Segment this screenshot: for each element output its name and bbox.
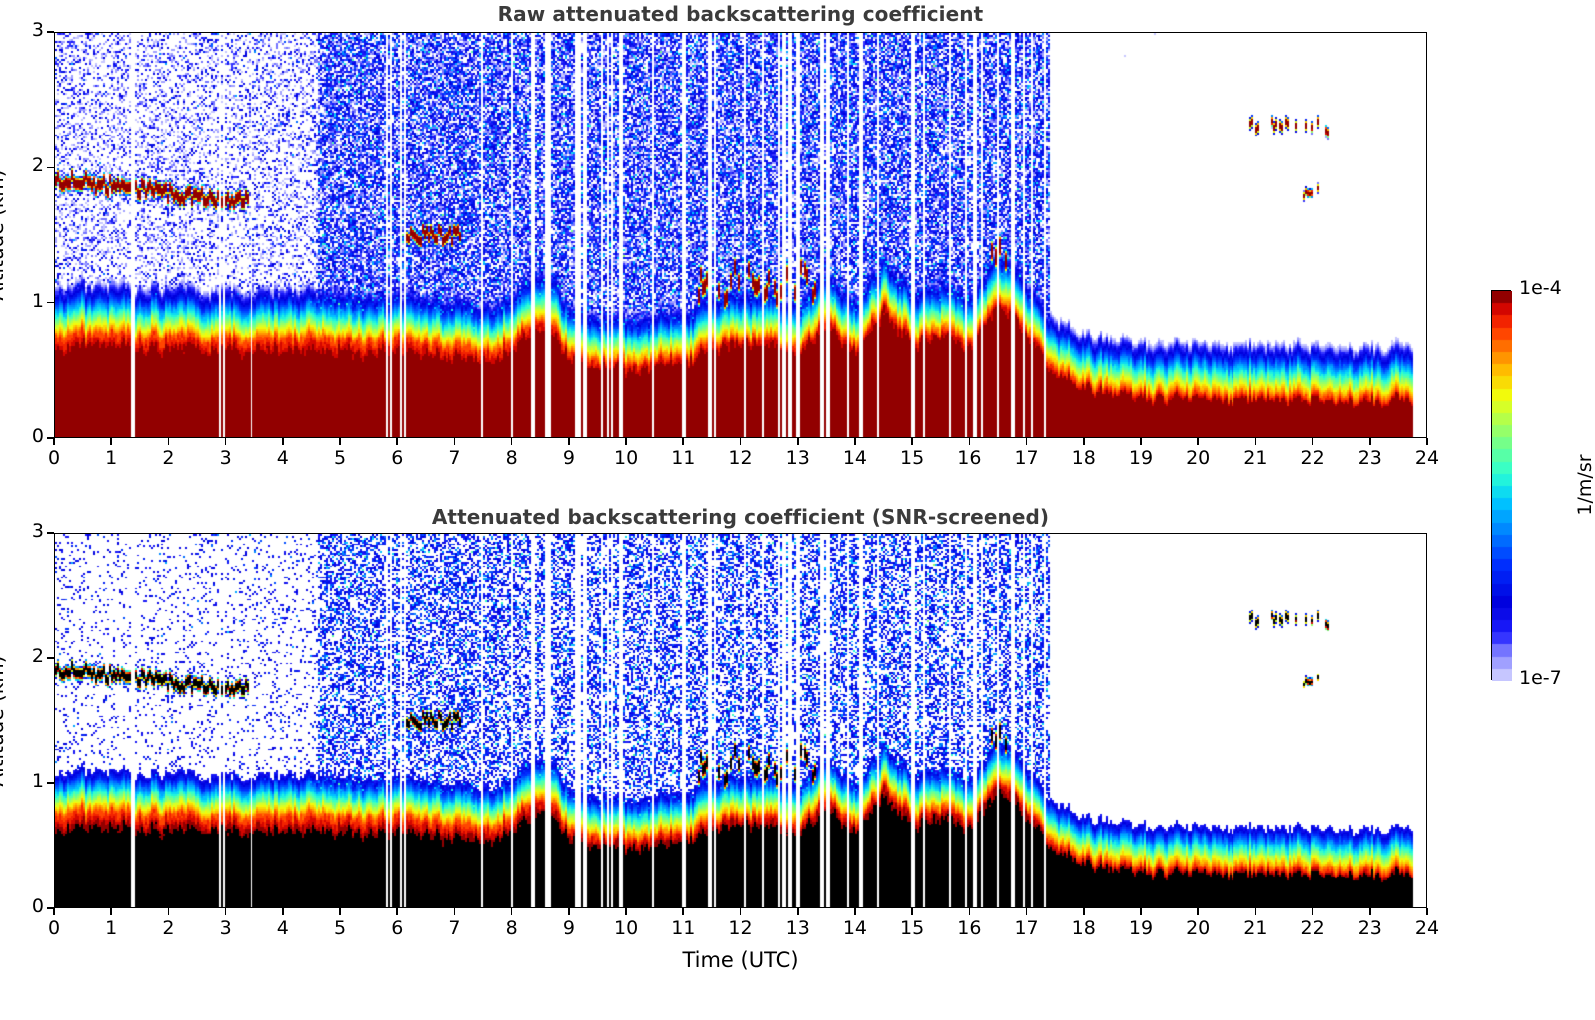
x-tick-label-raw-3: 3: [202, 447, 250, 469]
x-tick-raw-13: [797, 438, 799, 445]
y-tick-raw-2: [47, 167, 54, 169]
x-tick-label-screened-20: 20: [1174, 917, 1222, 939]
panel-title-screened: Attenuated backscattering coefficient (S…: [54, 505, 1427, 529]
x-tick-label-screened-1: 1: [87, 917, 135, 939]
y-tick-label-screened-1: 1: [8, 770, 44, 792]
y-tick-label-raw-3: 3: [8, 19, 44, 41]
x-tick-raw-23: [1369, 438, 1371, 445]
x-tick-label-screened-7: 7: [430, 917, 478, 939]
x-tick-label-raw-15: 15: [888, 447, 936, 469]
x-tick-screened-3: [225, 908, 227, 915]
x-tick-raw-5: [339, 438, 341, 445]
x-tick-label-raw-21: 21: [1231, 447, 1279, 469]
y-tick-label-screened-0: 0: [8, 895, 44, 917]
x-tick-raw-8: [511, 438, 513, 445]
x-tick-label-screened-8: 8: [488, 917, 536, 939]
y-tick-label-raw-1: 1: [8, 290, 44, 312]
x-tick-label-raw-0: 0: [30, 447, 78, 469]
x-tick-label-screened-0: 0: [30, 917, 78, 939]
y-tick-screened-2: [47, 657, 54, 659]
y-tick-label-raw-0: 0: [8, 425, 44, 447]
x-tick-raw-6: [396, 438, 398, 445]
heatmap-screened[interactable]: [54, 533, 1427, 908]
x-tick-screened-23: [1369, 908, 1371, 915]
x-tick-screened-16: [969, 908, 971, 915]
x-tick-screened-18: [1083, 908, 1085, 915]
x-tick-label-screened-14: 14: [831, 917, 879, 939]
x-tick-raw-21: [1255, 438, 1257, 445]
x-tick-screened-22: [1312, 908, 1314, 915]
x-tick-screened-8: [511, 908, 513, 915]
colorbar-max-label: 1e-4: [1519, 277, 1562, 299]
x-tick-screened-11: [682, 908, 684, 915]
x-tick-label-screened-3: 3: [202, 917, 250, 939]
x-tick-screened-20: [1197, 908, 1199, 915]
x-tick-label-raw-9: 9: [545, 447, 593, 469]
x-tick-screened-24: [1426, 908, 1428, 915]
panel-title-raw: Raw attenuated backscattering coefficien…: [54, 2, 1427, 26]
x-tick-raw-12: [740, 438, 742, 445]
x-tick-screened-0: [53, 908, 55, 915]
heatmap-raw[interactable]: [54, 32, 1427, 438]
x-tick-screened-9: [568, 908, 570, 915]
x-tick-screened-15: [911, 908, 913, 915]
x-tick-raw-24: [1426, 438, 1428, 445]
x-tick-raw-4: [282, 438, 284, 445]
x-tick-screened-17: [1026, 908, 1028, 915]
x-tick-screened-21: [1255, 908, 1257, 915]
x-tick-raw-10: [625, 438, 627, 445]
y-tick-label-screened-2: 2: [8, 645, 44, 667]
x-tick-raw-9: [568, 438, 570, 445]
colorbar-title: 1/m/sr: [1571, 425, 1595, 545]
x-tick-label-raw-16: 16: [945, 447, 993, 469]
x-tick-raw-16: [969, 438, 971, 445]
x-tick-label-raw-4: 4: [259, 447, 307, 469]
x-tick-label-screened-9: 9: [545, 917, 593, 939]
x-axis-label-screened: Time (UTC): [54, 948, 1427, 972]
x-tick-label-screened-2: 2: [144, 917, 192, 939]
y-tick-raw-1: [47, 302, 54, 304]
x-tick-screened-6: [396, 908, 398, 915]
x-tick-screened-10: [625, 908, 627, 915]
x-tick-screened-13: [797, 908, 799, 915]
x-tick-label-screened-4: 4: [259, 917, 307, 939]
x-tick-raw-7: [454, 438, 456, 445]
x-tick-label-raw-11: 11: [659, 447, 707, 469]
colorbar[interactable]: [1491, 290, 1511, 680]
x-tick-label-screened-5: 5: [316, 917, 364, 939]
x-tick-label-screened-24: 24: [1403, 917, 1451, 939]
x-tick-label-screened-6: 6: [373, 917, 421, 939]
x-tick-raw-2: [168, 438, 170, 445]
y-tick-screened-1: [47, 782, 54, 784]
x-tick-screened-5: [339, 908, 341, 915]
heatmap-image-screened: [55, 534, 1427, 908]
x-tick-raw-3: [225, 438, 227, 445]
y-tick-raw-0: [47, 437, 54, 439]
x-tick-raw-19: [1140, 438, 1142, 445]
x-tick-screened-12: [740, 908, 742, 915]
y-tick-label-raw-2: 2: [8, 154, 44, 176]
y-tick-label-screened-3: 3: [8, 520, 44, 542]
x-tick-label-screened-22: 22: [1289, 917, 1337, 939]
x-tick-label-raw-2: 2: [144, 447, 192, 469]
x-tick-label-screened-10: 10: [602, 917, 650, 939]
x-tick-label-screened-18: 18: [1060, 917, 1108, 939]
x-tick-raw-11: [682, 438, 684, 445]
x-tick-screened-7: [454, 908, 456, 915]
x-tick-label-raw-20: 20: [1174, 447, 1222, 469]
x-tick-screened-19: [1140, 908, 1142, 915]
x-tick-screened-14: [854, 908, 856, 915]
x-tick-label-raw-6: 6: [373, 447, 421, 469]
x-tick-label-raw-1: 1: [87, 447, 135, 469]
x-tick-raw-0: [53, 438, 55, 445]
x-tick-label-raw-5: 5: [316, 447, 364, 469]
x-tick-raw-20: [1197, 438, 1199, 445]
x-tick-raw-18: [1083, 438, 1085, 445]
x-tick-label-raw-23: 23: [1346, 447, 1394, 469]
x-tick-label-raw-8: 8: [488, 447, 536, 469]
x-tick-label-screened-19: 19: [1117, 917, 1165, 939]
x-tick-label-screened-15: 15: [888, 917, 936, 939]
x-tick-raw-1: [110, 438, 112, 445]
x-tick-label-raw-12: 12: [717, 447, 765, 469]
x-tick-label-screened-12: 12: [717, 917, 765, 939]
y-tick-screened-3: [47, 532, 54, 534]
x-tick-label-raw-7: 7: [430, 447, 478, 469]
x-tick-label-screened-17: 17: [1003, 917, 1051, 939]
figure-canvas: Raw attenuated backscattering coefficien…: [0, 0, 1595, 1020]
x-tick-label-raw-22: 22: [1289, 447, 1337, 469]
x-tick-label-raw-24: 24: [1403, 447, 1451, 469]
x-tick-label-screened-13: 13: [774, 917, 822, 939]
x-tick-label-raw-14: 14: [831, 447, 879, 469]
x-tick-label-screened-11: 11: [659, 917, 707, 939]
y-tick-raw-3: [47, 31, 54, 33]
x-tick-raw-17: [1026, 438, 1028, 445]
x-tick-label-raw-19: 19: [1117, 447, 1165, 469]
x-tick-raw-15: [911, 438, 913, 445]
colorbar-min-label: 1e-7: [1519, 667, 1562, 689]
heatmap-image-raw: [55, 33, 1427, 438]
x-tick-screened-2: [168, 908, 170, 915]
y-tick-screened-0: [47, 907, 54, 909]
x-tick-raw-22: [1312, 438, 1314, 445]
x-tick-label-screened-16: 16: [945, 917, 993, 939]
x-tick-label-raw-17: 17: [1003, 447, 1051, 469]
x-tick-screened-1: [110, 908, 112, 915]
x-tick-label-screened-23: 23: [1346, 917, 1394, 939]
x-tick-label-raw-18: 18: [1060, 447, 1108, 469]
x-tick-screened-4: [282, 908, 284, 915]
x-tick-raw-14: [854, 438, 856, 445]
x-tick-label-screened-21: 21: [1231, 917, 1279, 939]
colorbar-gradient: [1492, 291, 1512, 681]
x-tick-label-raw-10: 10: [602, 447, 650, 469]
x-tick-label-raw-13: 13: [774, 447, 822, 469]
